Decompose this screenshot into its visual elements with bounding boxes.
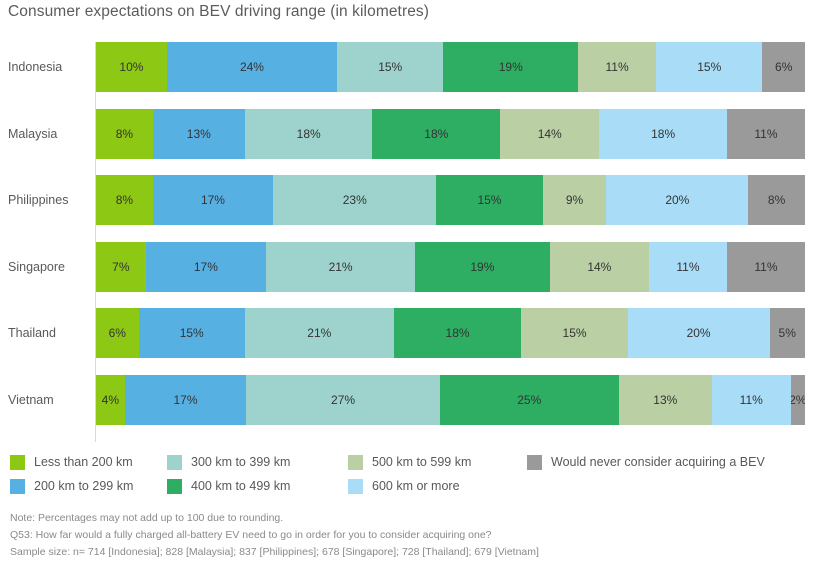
stacked-bar: 8%13%18%18%14%18%11%: [96, 109, 805, 159]
segment-value-label: 2%: [791, 393, 805, 407]
segment-value-label: 11%: [676, 260, 699, 274]
footnote-line: Note: Percentages may not add up to 100 …: [10, 510, 815, 527]
bar-segment[interactable]: 15%: [337, 42, 443, 92]
segment-value-label: 14%: [587, 260, 611, 274]
segment-value-label: 14%: [538, 127, 562, 141]
bar-segment[interactable]: 24%: [167, 42, 337, 92]
bar-segment[interactable]: 8%: [96, 109, 153, 159]
segment-value-label: 23%: [343, 193, 367, 207]
legend-color-swatch: [527, 455, 542, 470]
chart-row: Singapore7%17%21%19%14%11%11%: [0, 242, 819, 292]
footnotes-block: Note: Percentages may not add up to 100 …: [10, 510, 815, 561]
category-label: Indonesia: [8, 42, 88, 92]
bar-segment[interactable]: 11%: [727, 109, 805, 159]
segment-value-label: 7%: [112, 260, 129, 274]
stacked-bar: 6%15%21%18%15%20%5%: [96, 308, 805, 358]
stacked-bar: 4%17%27%25%13%11%2%: [96, 375, 805, 425]
legend-label: 600 km or more: [372, 479, 460, 493]
segment-value-label: 5%: [779, 326, 796, 340]
bar-segment[interactable]: 8%: [96, 175, 153, 225]
bar-segment[interactable]: 14%: [500, 109, 599, 159]
legend-color-swatch: [348, 455, 363, 470]
bar-segment[interactable]: 18%: [394, 308, 522, 358]
bar-segment[interactable]: 10%: [96, 42, 167, 92]
bar-segment[interactable]: 5%: [770, 308, 805, 358]
legend-label: 500 km to 599 km: [372, 455, 471, 469]
chart-legend: Less than 200 km200 km to 299 km300 km t…: [10, 452, 810, 498]
bar-segment[interactable]: 11%: [727, 242, 805, 292]
legend-color-swatch: [348, 479, 363, 494]
legend-label: 400 km to 499 km: [191, 479, 290, 493]
segment-value-label: 20%: [665, 193, 689, 207]
bar-segment[interactable]: 15%: [521, 308, 627, 358]
segment-value-label: 21%: [307, 326, 331, 340]
segment-value-label: 17%: [194, 260, 218, 274]
bar-segment[interactable]: 15%: [436, 175, 542, 225]
segment-value-label: 18%: [446, 326, 470, 340]
legend-item[interactable]: 400 km to 499 km: [167, 476, 290, 496]
bar-segment[interactable]: 11%: [649, 242, 727, 292]
legend-label: Would never consider acquiring a BEV: [551, 455, 765, 469]
segment-value-label: 20%: [687, 326, 711, 340]
category-label: Thailand: [8, 308, 88, 358]
bar-segment[interactable]: 25%: [440, 375, 619, 425]
stacked-bar-chart-plot: Indonesia10%24%15%19%11%15%6%Malaysia8%1…: [0, 42, 819, 442]
chart-row: Malaysia8%13%18%18%14%18%11%: [0, 109, 819, 159]
bar-segment[interactable]: 23%: [273, 175, 436, 225]
segment-value-label: 8%: [116, 193, 133, 207]
bar-segment[interactable]: 17%: [153, 175, 274, 225]
segment-value-label: 19%: [470, 260, 494, 274]
segment-value-label: 11%: [754, 127, 777, 141]
segment-value-label: 21%: [329, 260, 353, 274]
bar-segment[interactable]: 7%: [96, 242, 146, 292]
chart-row: Philippines8%17%23%15%9%20%8%: [0, 175, 819, 225]
footnote-line: Sample size: n= 714 [Indonesia]; 828 [Ma…: [10, 544, 815, 561]
segment-value-label: 15%: [180, 326, 204, 340]
legend-item[interactable]: 300 km to 399 km: [167, 452, 290, 472]
bar-segment[interactable]: 17%: [125, 375, 247, 425]
bar-segment[interactable]: 13%: [153, 109, 245, 159]
category-label: Singapore: [8, 242, 88, 292]
bar-segment[interactable]: 4%: [96, 375, 125, 425]
bar-segment[interactable]: 6%: [96, 308, 139, 358]
page-title: Consumer expectations on BEV driving ran…: [8, 3, 429, 21]
legend-item[interactable]: 600 km or more: [348, 476, 460, 496]
bar-segment[interactable]: 8%: [748, 175, 805, 225]
bar-segment[interactable]: 21%: [245, 308, 394, 358]
bar-segment[interactable]: 11%: [712, 375, 791, 425]
bar-segment[interactable]: 15%: [656, 42, 762, 92]
bar-segment[interactable]: 11%: [578, 42, 656, 92]
legend-label: 200 km to 299 km: [34, 479, 133, 493]
segment-value-label: 11%: [606, 60, 629, 74]
stacked-bar: 8%17%23%15%9%20%8%: [96, 175, 805, 225]
bar-segment[interactable]: 14%: [550, 242, 649, 292]
legend-color-swatch: [10, 455, 25, 470]
segment-value-label: 13%: [653, 393, 677, 407]
footnote-line: Q53: How far would a fully charged all-b…: [10, 527, 815, 544]
legend-label: Less than 200 km: [34, 455, 133, 469]
bar-segment[interactable]: 18%: [245, 109, 373, 159]
segment-value-label: 18%: [424, 127, 448, 141]
bar-segment[interactable]: 20%: [628, 308, 770, 358]
bar-segment[interactable]: 2%: [791, 375, 805, 425]
category-label: Vietnam: [8, 375, 88, 425]
chart-row: Vietnam4%17%27%25%13%11%2%: [0, 375, 819, 425]
bar-segment[interactable]: 18%: [372, 109, 500, 159]
segment-value-label: 9%: [566, 193, 583, 207]
legend-item[interactable]: Would never consider acquiring a BEV: [527, 452, 765, 472]
stacked-bar: 7%17%21%19%14%11%11%: [96, 242, 805, 292]
segment-value-label: 18%: [651, 127, 675, 141]
segment-value-label: 13%: [187, 127, 211, 141]
legend-label: 300 km to 399 km: [191, 455, 290, 469]
bar-segment[interactable]: 13%: [619, 375, 712, 425]
category-label: Philippines: [8, 175, 88, 225]
segment-value-label: 15%: [563, 326, 587, 340]
legend-color-swatch: [10, 479, 25, 494]
segment-value-label: 15%: [697, 60, 721, 74]
segment-value-label: 8%: [116, 127, 133, 141]
bar-segment[interactable]: 9%: [543, 175, 607, 225]
bar-segment[interactable]: 19%: [415, 242, 550, 292]
legend-color-swatch: [167, 455, 182, 470]
bar-segment[interactable]: 20%: [606, 175, 748, 225]
bar-segment[interactable]: 21%: [266, 242, 415, 292]
segment-value-label: 6%: [109, 326, 126, 340]
bar-segment[interactable]: 19%: [443, 42, 578, 92]
category-label: Malaysia: [8, 109, 88, 159]
bar-segment[interactable]: 15%: [139, 308, 245, 358]
segment-value-label: 24%: [240, 60, 264, 74]
legend-item[interactable]: 500 km to 599 km: [348, 452, 471, 472]
segment-value-label: 25%: [517, 393, 541, 407]
chart-row: Indonesia10%24%15%19%11%15%6%: [0, 42, 819, 92]
legend-item[interactable]: Less than 200 km: [10, 452, 133, 472]
segment-value-label: 15%: [477, 193, 501, 207]
segment-value-label: 27%: [331, 393, 355, 407]
segment-value-label: 8%: [768, 193, 785, 207]
bar-segment[interactable]: 27%: [246, 375, 439, 425]
segment-value-label: 17%: [201, 193, 225, 207]
segment-value-label: 10%: [119, 60, 143, 74]
stacked-bar: 10%24%15%19%11%15%6%: [96, 42, 805, 92]
segment-value-label: 15%: [378, 60, 402, 74]
segment-value-label: 17%: [173, 393, 197, 407]
segment-value-label: 19%: [499, 60, 523, 74]
segment-value-label: 4%: [102, 393, 119, 407]
legend-color-swatch: [167, 479, 182, 494]
bar-segment[interactable]: 18%: [599, 109, 727, 159]
chart-row: Thailand6%15%21%18%15%20%5%: [0, 308, 819, 358]
bar-segment[interactable]: 17%: [146, 242, 267, 292]
segment-value-label: 11%: [754, 260, 777, 274]
segment-value-label: 11%: [740, 393, 763, 407]
segment-value-label: 6%: [775, 60, 792, 74]
segment-value-label: 18%: [297, 127, 321, 141]
legend-item[interactable]: 200 km to 299 km: [10, 476, 133, 496]
bar-segment[interactable]: 6%: [762, 42, 805, 92]
